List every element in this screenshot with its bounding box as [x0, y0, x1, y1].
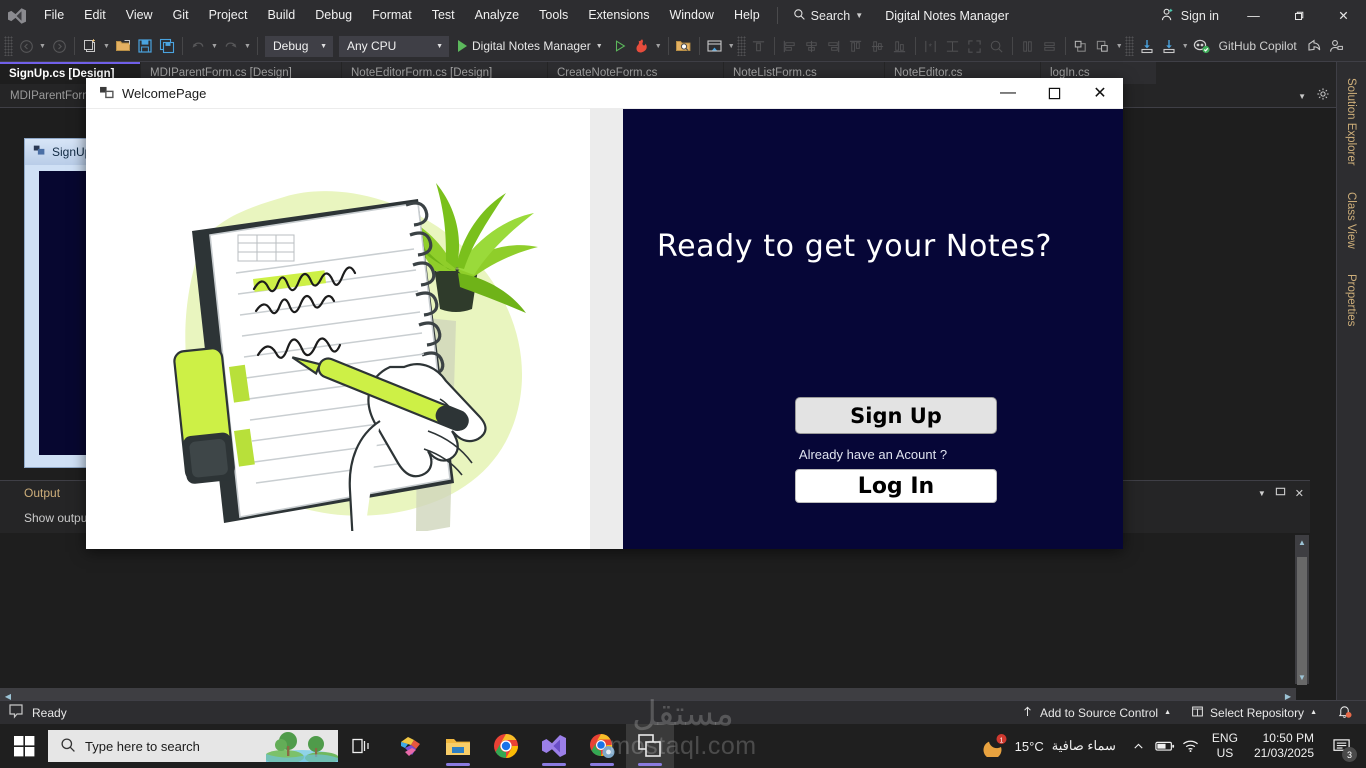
step-into-icon[interactable] — [1136, 34, 1158, 58]
chevron-down-icon[interactable]: ▼ — [1298, 92, 1306, 101]
menu-window[interactable]: Window — [659, 0, 723, 31]
toolbar-divider-8 — [1012, 37, 1013, 55]
redo-icon[interactable] — [220, 34, 242, 58]
toolbar-grip-3[interactable] — [1125, 36, 1134, 56]
form-icon — [33, 144, 46, 160]
weather-widget[interactable]: 1 15°C سماء صافية — [973, 733, 1126, 760]
dock-tab-properties[interactable]: Properties — [1345, 264, 1357, 336]
align-rights-icon[interactable] — [823, 34, 845, 58]
live-preview-icon[interactable] — [704, 34, 726, 58]
toolbar-grip-2[interactable] — [737, 36, 746, 56]
search-label: Search — [811, 9, 851, 23]
menu-build[interactable]: Build — [257, 0, 305, 31]
restore-button[interactable] — [1276, 0, 1321, 31]
source-control-label: Add to Source Control — [1040, 706, 1158, 720]
feedback-icon[interactable] — [1325, 34, 1347, 58]
minimize-button[interactable]: — — [985, 78, 1031, 109]
add-user-icon — [1160, 7, 1175, 25]
start-button[interactable] — [0, 724, 48, 768]
bell-icon — [1337, 704, 1352, 722]
output-text-area[interactable] — [0, 533, 1310, 704]
menu-divider — [777, 7, 778, 24]
hot-reload-icon[interactable] — [631, 34, 653, 58]
task-view-button[interactable] — [338, 724, 386, 768]
notes-illustration — [118, 131, 558, 531]
scroll-up-icon[interactable]: ▲ — [1295, 535, 1309, 549]
nav-controls: ▼ — [1298, 84, 1330, 108]
upload-arrow-icon — [1021, 705, 1034, 721]
welcome-page-body: Ready to get your Notes? Sign Up Already… — [86, 109, 1123, 549]
gear-icon[interactable] — [1316, 87, 1330, 106]
menu-help[interactable]: Help — [724, 0, 770, 31]
menu-tools[interactable]: Tools — [529, 0, 578, 31]
ide-menu-bar: File Edit View Git Project Build Debug F… — [0, 0, 1366, 31]
copilot-label[interactable]: GitHub Copilot — [1213, 39, 1303, 53]
dock-tab-class-view[interactable]: Class View — [1345, 182, 1357, 259]
menu-git[interactable]: Git — [163, 0, 199, 31]
run-target-label: Digital Notes Manager — [472, 39, 591, 53]
make-same-size-icon[interactable]: * — [920, 34, 942, 58]
minimize-button[interactable]: — — [1231, 0, 1276, 31]
welcome-page-title: WelcomePage — [116, 86, 206, 101]
search-icon — [793, 8, 806, 24]
toolbar-divider-5 — [699, 37, 700, 55]
notifications-bell-button[interactable] — [1327, 704, 1366, 722]
taskbar-app-chrome-icon[interactable] — [482, 724, 530, 768]
windows-taskbar: Type here to search — [0, 724, 1366, 768]
clock-widget[interactable]: 10:50 PM 21/03/2025 — [1246, 731, 1322, 761]
notification-count-badge: 3 — [1342, 747, 1357, 762]
search-in-files-icon[interactable] — [673, 34, 695, 58]
system-tray: 1 15°C سماء صافية ENG US 10:50 PM 21/03/… — [973, 724, 1366, 768]
language-primary: ENG — [1212, 731, 1238, 746]
headline: Ready to get your Notes? — [657, 229, 1157, 264]
menu-edit[interactable]: Edit — [74, 0, 116, 31]
app-running-indicator — [638, 763, 662, 766]
menu-test[interactable]: Test — [422, 0, 465, 31]
weather-moon-icon: 1 — [983, 733, 1007, 760]
weather-temperature: 15°C — [1015, 739, 1044, 754]
language-secondary: US — [1217, 746, 1234, 761]
share-icon[interactable] — [1303, 34, 1325, 58]
expand-icon[interactable] — [964, 34, 986, 58]
live-preview-dropdown-icon[interactable]: ▼ — [726, 34, 737, 58]
toolbar-divider — [74, 37, 75, 55]
app-running-indicator — [542, 763, 566, 766]
undo-dropdown-icon[interactable]: ▼ — [209, 34, 220, 58]
show-hidden-icons-button[interactable] — [1126, 724, 1152, 768]
taskbar-search-box[interactable]: Type here to search — [48, 730, 338, 762]
log-in-button[interactable]: Log In — [795, 469, 997, 503]
chevron-up-icon: ▲ — [1164, 709, 1171, 716]
align-tops-icon[interactable] — [748, 34, 770, 58]
visual-studio-logo-icon — [0, 0, 34, 31]
start-without-debugging-icon[interactable] — [609, 34, 631, 58]
navigate-forward-icon[interactable] — [48, 34, 70, 58]
toolbar-divider-2 — [182, 37, 183, 55]
clock-date: 21/03/2025 — [1254, 746, 1314, 761]
open-file-icon[interactable] — [112, 34, 134, 58]
taskbar-app-visual-studio-icon[interactable] — [530, 724, 578, 768]
align-bottoms-icon[interactable] — [889, 34, 911, 58]
search-decoration-image — [266, 730, 338, 762]
center-horizontally-icon[interactable] — [1017, 34, 1039, 58]
ide-status-bar: Ready Add to Source Control ▲ Select Rep… — [0, 700, 1366, 724]
status-icon — [8, 703, 24, 722]
align-lefts-icon[interactable] — [779, 34, 801, 58]
illustration-pane — [86, 109, 590, 549]
taskbar-search-placeholder: Type here to search — [85, 739, 200, 754]
status-ready: Ready — [0, 703, 67, 722]
start-debugging-button[interactable]: Digital Notes Manager ▼ — [452, 34, 609, 58]
chevron-down-icon[interactable]: ▼ — [1258, 489, 1266, 498]
center-vertically-icon[interactable] — [1039, 34, 1061, 58]
toolbar-divider-6 — [774, 37, 775, 55]
toolbar-grip[interactable] — [4, 36, 13, 56]
select-repository-button[interactable]: Select Repository ▲ — [1181, 705, 1327, 721]
toolbar-divider-9 — [1065, 37, 1066, 55]
scrollbar-thumb[interactable] — [1297, 557, 1307, 685]
save-all-icon[interactable] — [156, 34, 178, 58]
search-box[interactable]: Search ▼ — [785, 8, 872, 24]
configuration-value: Debug — [273, 39, 308, 53]
align-middles-icon[interactable] — [867, 34, 889, 58]
output-vertical-scrollbar[interactable]: ▲ ▼ — [1295, 535, 1309, 684]
window-controls: — ✕ — [1231, 0, 1366, 31]
menu-format[interactable]: Format — [362, 0, 422, 31]
ide-toolbar: ▼ ▼ ▼ ▼ Debug ▼ Any C — [0, 31, 1366, 62]
output-panel-controls: ▼ ✕ — [1258, 483, 1304, 503]
breadcrumb: MDIParentForm — [10, 84, 92, 108]
weather-description: سماء صافية — [1052, 738, 1116, 754]
redo-dropdown-icon[interactable]: ▼ — [242, 34, 253, 58]
sign-up-button[interactable]: Sign Up — [795, 397, 997, 434]
align-centers-icon[interactable] — [801, 34, 823, 58]
solution-platform-select[interactable]: Any CPU ▼ — [339, 36, 449, 57]
chevron-down-icon: ▼ — [855, 11, 863, 20]
menu-debug[interactable]: Debug — [305, 0, 362, 31]
back-dropdown-icon[interactable]: ▼ — [37, 34, 48, 58]
notification-center-button[interactable]: 3 — [1322, 724, 1362, 768]
platform-value: Any CPU — [347, 39, 396, 53]
welcome-page-title-bar: WelcomePage — ✕ — [86, 78, 1123, 109]
new-project-dropdown-icon[interactable]: ▼ — [101, 34, 112, 58]
form-icon — [86, 86, 116, 100]
wifi-icon[interactable] — [1178, 724, 1204, 768]
maximize-panel-icon[interactable] — [1275, 486, 1286, 500]
sign-in-label: Sign in — [1181, 9, 1219, 23]
navigate-back-icon[interactable] — [15, 34, 37, 58]
clock-time: 10:50 PM — [1263, 731, 1314, 746]
svg-text:1: 1 — [999, 737, 1003, 744]
sign-in-button[interactable]: Sign in — [1148, 7, 1231, 25]
repository-icon — [1191, 705, 1204, 721]
toolbar-divider-3 — [257, 37, 258, 55]
solution-name: Digital Notes Manager — [871, 9, 1023, 23]
toolbar-divider-4 — [668, 37, 669, 55]
language-indicator[interactable]: ENG US — [1204, 731, 1246, 761]
maximize-button[interactable] — [1031, 78, 1077, 109]
menu-analyze[interactable]: Analyze — [465, 0, 529, 31]
add-to-source-control-button[interactable]: Add to Source Control ▲ — [1011, 705, 1181, 721]
chevron-down-icon: ▼ — [436, 43, 443, 50]
layering-dropdown-icon[interactable]: ▼ — [1114, 34, 1125, 58]
zoom-icon[interactable] — [986, 34, 1008, 58]
toolbar-divider-7 — [915, 37, 916, 55]
menu-file[interactable]: File — [34, 0, 74, 31]
menu-extensions[interactable]: Extensions — [578, 0, 659, 31]
battery-icon[interactable] — [1152, 724, 1178, 768]
align-top-edges-icon[interactable] — [845, 34, 867, 58]
search-icon — [60, 737, 76, 756]
send-to-back-icon[interactable] — [1092, 34, 1114, 58]
play-icon — [458, 40, 467, 52]
taskbar-app-office-icon[interactable] — [386, 724, 434, 768]
app-running-indicator — [590, 763, 614, 766]
chevron-up-icon: ▲ — [1310, 709, 1317, 716]
size-to-grid-icon[interactable] — [942, 34, 964, 58]
app-running-indicator — [446, 763, 470, 766]
taskbar-app-active-window-icon[interactable] — [626, 724, 674, 768]
status-ready-label: Ready — [32, 706, 67, 720]
dock-tab-solution-explorer[interactable]: Solution Explorer — [1345, 68, 1357, 176]
svg-text:*: * — [929, 41, 933, 51]
hot-reload-dropdown-icon[interactable]: ▼ — [653, 34, 664, 58]
welcome-page-window: WelcomePage — ✕ — [86, 78, 1123, 549]
taskbar-app-file-explorer-icon[interactable] — [434, 724, 482, 768]
menu-view[interactable]: View — [116, 0, 163, 31]
solution-configuration-select[interactable]: Debug ▼ — [265, 36, 333, 57]
copilot-badge-icon[interactable] — [1191, 34, 1213, 58]
undo-icon[interactable] — [187, 34, 209, 58]
debug-dropdown-icon[interactable]: ▼ — [1180, 34, 1191, 58]
show-output-label: Show output — [24, 511, 91, 525]
new-project-icon[interactable] — [79, 34, 101, 58]
repository-label: Select Repository — [1210, 706, 1304, 720]
close-button[interactable]: ✕ — [1321, 0, 1366, 31]
chevron-down-icon: ▼ — [596, 43, 603, 50]
cta-pane: Ready to get your Notes? Sign Up Already… — [623, 109, 1123, 549]
step-over-icon[interactable] — [1158, 34, 1180, 58]
pane-divider — [590, 109, 623, 549]
scroll-down-icon[interactable]: ▼ — [1295, 670, 1309, 684]
close-button[interactable]: ✕ — [1077, 78, 1123, 109]
menu-project[interactable]: Project — [199, 0, 258, 31]
save-icon[interactable] — [134, 34, 156, 58]
chevron-down-icon: ▼ — [320, 43, 327, 50]
already-have-account-label: Already have an Acount ? — [623, 447, 1123, 462]
close-panel-icon[interactable]: ✕ — [1295, 487, 1304, 500]
taskbar-app-chrome-second-icon[interactable] — [578, 724, 626, 768]
right-tool-dock: Solution Explorer Class View Properties — [1336, 62, 1366, 704]
bring-to-front-icon[interactable] — [1070, 34, 1092, 58]
